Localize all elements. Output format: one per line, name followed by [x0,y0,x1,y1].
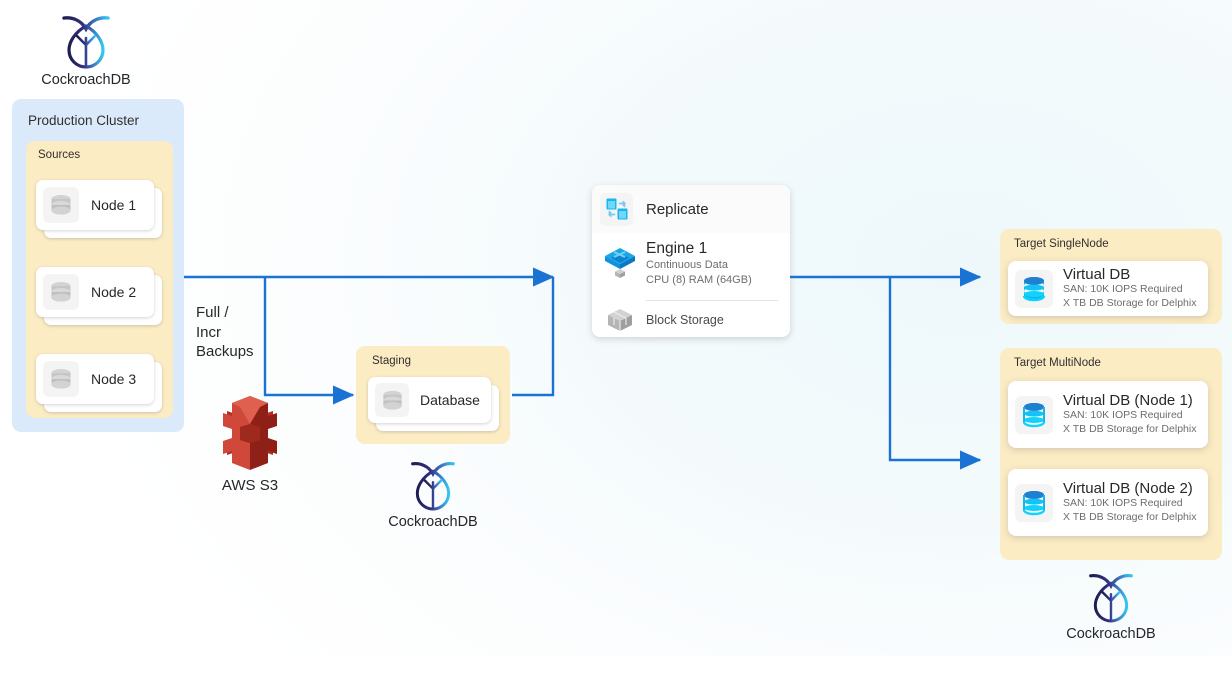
cockroachdb-logo-caption: CockroachDB [1061,626,1161,642]
virtual-db-card[interactable]: Virtual DB SAN: 10K IOPS Required X TB D… [1008,261,1208,316]
staging-database-title: Database [420,392,480,408]
cockroachdb-logo-icon [409,458,457,512]
production-cluster-label: Production Cluster [28,113,139,128]
connector-engine-to-multinode [890,277,980,460]
target-multinode-label: Target MultiNode [1014,357,1101,369]
virtual-db-card[interactable]: Virtual DB (Node 1) SAN: 10K IOPS Requir… [1008,381,1208,448]
engine-text-block: Engine 1 Continuous Data CPU (8) RAM (64… [646,240,752,287]
connector-staging-to-engine [512,277,553,395]
engine-line-1: Continuous Data [646,258,752,273]
replicate-title: Replicate [646,201,709,218]
block-storage-icon [600,306,640,334]
virtual-db-line-1: SAN: 10K IOPS Required [1063,283,1196,297]
card-front: Node 3 [36,354,154,404]
engine-icon [600,245,640,283]
replicate-icon [600,193,633,226]
block-storage-title: Block Storage [646,312,724,329]
aws-s3-icon [215,393,285,473]
node-card[interactable]: Node 3 [36,354,154,404]
virtual-db-title: Virtual DB (Node 1) [1063,392,1196,409]
virtual-db-text-block: Virtual DB SAN: 10K IOPS Required X TB D… [1063,266,1196,311]
card-front: Node 2 [36,267,154,317]
virtual-db-line-2: X TB DB Storage for Delphix [1063,423,1196,437]
connector-sources-to-staging [265,277,353,395]
replicate-panel: Replicate Engine 1 Continuous Data [592,185,790,337]
database-cylinder-icon [43,361,79,397]
panel-divider [646,300,778,301]
target-singlenode-label: Target SingleNode [1014,238,1109,250]
cockroachdb-logo-icon [60,12,112,70]
staging-database-card[interactable]: Database [368,377,491,423]
replicate-header-row[interactable]: Replicate [592,185,790,233]
node-card-title: Node 2 [91,284,136,300]
backups-label: Full / Incr Backups [196,303,254,362]
node-card[interactable]: Node 2 [36,267,154,317]
virtual-db-icon [1015,484,1053,522]
virtual-db-text-block: Virtual DB (Node 1) SAN: 10K IOPS Requir… [1063,392,1196,437]
virtual-db-icon [1015,270,1053,308]
aws-s3-block: AWS S3 [200,393,300,494]
node-card-title: Node 3 [91,371,136,387]
block-storage-row[interactable]: Block Storage [592,303,790,337]
node-card-title: Node 1 [91,197,136,213]
virtual-db-text-block: Virtual DB (Node 2) SAN: 10K IOPS Requir… [1063,480,1196,525]
aws-s3-label: AWS S3 [200,477,300,494]
database-cylinder-icon [43,274,79,310]
virtual-db-line-1: SAN: 10K IOPS Required [1063,497,1196,511]
cockroachdb-logo-target: CockroachDB [1061,570,1161,642]
cockroachdb-logo-top: CockroachDB [36,12,136,88]
engine-title: Engine 1 [646,240,752,258]
card-front: Node 1 [36,180,154,230]
cockroachdb-logo-icon [1087,570,1135,624]
virtual-db-icon [1015,396,1053,434]
virtual-db-title: Virtual DB (Node 2) [1063,480,1196,497]
engine-row[interactable]: Engine 1 Continuous Data CPU (8) RAM (64… [592,233,790,295]
card-front: Database [368,377,491,423]
node-card[interactable]: Node 1 [36,180,154,230]
virtual-db-line-2: X TB DB Storage for Delphix [1063,297,1196,311]
database-cylinder-icon [375,383,409,417]
virtual-db-line-2: X TB DB Storage for Delphix [1063,511,1196,525]
virtual-db-line-1: SAN: 10K IOPS Required [1063,409,1196,423]
sources-label: Sources [38,149,80,161]
engine-line-2: CPU (8) RAM (64GB) [646,273,752,288]
connector-layer [0,0,1232,686]
cockroachdb-logo-caption: CockroachDB [36,72,136,88]
staging-label: Staging [372,355,411,367]
virtual-db-card[interactable]: Virtual DB (Node 2) SAN: 10K IOPS Requir… [1008,469,1208,536]
cockroachdb-logo-caption: CockroachDB [383,514,483,530]
virtual-db-title: Virtual DB [1063,266,1196,283]
database-cylinder-icon [43,187,79,223]
diagram-canvas: CockroachDB Production Cluster Sources N… [0,0,1232,686]
cockroachdb-logo-staging: CockroachDB [383,458,483,530]
